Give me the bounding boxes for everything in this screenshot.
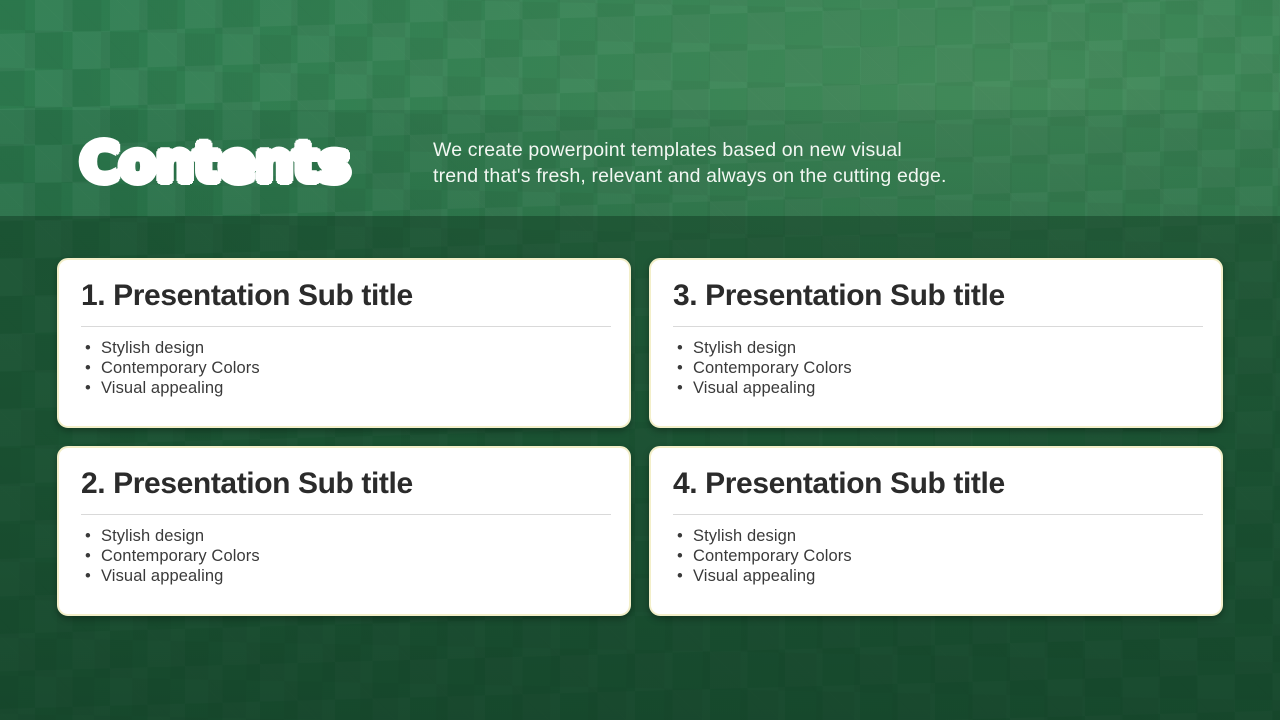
- bullet-icon: •: [85, 378, 91, 398]
- card-divider: [81, 514, 611, 515]
- card-bullet-list: •Stylish design •Contemporary Colors •Vi…: [673, 338, 1199, 398]
- list-item-label: Visual appealing: [693, 379, 815, 397]
- list-item-label: Stylish design: [101, 527, 204, 545]
- list-item: •Visual appealing: [81, 378, 607, 398]
- list-item: •Contemporary Colors: [81, 358, 607, 378]
- list-item: •Stylish design: [673, 338, 1199, 358]
- list-item-label: Stylish design: [693, 339, 796, 357]
- list-item-label: Stylish design: [693, 527, 796, 545]
- card-bullet-list: •Stylish design •Contemporary Colors •Vi…: [81, 338, 607, 398]
- card-bullet-list: •Stylish design •Contemporary Colors •Vi…: [673, 526, 1199, 586]
- content-card[interactable]: 4. Presentation Sub title •Stylish desig…: [649, 446, 1223, 616]
- header-subtitle-line-2: trend that's fresh, relevant and always …: [433, 163, 1053, 189]
- card-title: 3. Presentation Sub title: [673, 280, 1199, 312]
- bullet-icon: •: [85, 566, 91, 586]
- content-card[interactable]: 1. Presentation Sub title •Stylish desig…: [57, 258, 631, 428]
- bullet-icon: •: [85, 338, 91, 358]
- list-item: •Visual appealing: [673, 378, 1199, 398]
- list-item: •Contemporary Colors: [673, 546, 1199, 566]
- list-item-label: Contemporary Colors: [693, 359, 852, 377]
- header-subtitle-line-1: We create powerpoint templates based on …: [433, 137, 1053, 163]
- bullet-icon: •: [677, 566, 683, 586]
- card-divider: [673, 326, 1203, 327]
- list-item-label: Stylish design: [101, 339, 204, 357]
- bullet-icon: •: [677, 358, 683, 378]
- list-item-label: Contemporary Colors: [101, 547, 260, 565]
- card-divider: [673, 514, 1203, 515]
- list-item-label: Visual appealing: [101, 567, 223, 585]
- list-item: •Contemporary Colors: [673, 358, 1199, 378]
- header-subtitle: We create powerpoint templates based on …: [433, 137, 1053, 189]
- list-item: •Stylish design: [673, 526, 1199, 546]
- bullet-icon: •: [85, 526, 91, 546]
- list-item: •Visual appealing: [81, 566, 607, 586]
- content-card[interactable]: 3. Presentation Sub title •Stylish desig…: [649, 258, 1223, 428]
- bullet-icon: •: [677, 378, 683, 398]
- page-title: Contents: [80, 136, 350, 190]
- bullet-icon: •: [677, 546, 683, 566]
- list-item-label: Visual appealing: [101, 379, 223, 397]
- list-item-label: Contemporary Colors: [693, 547, 852, 565]
- list-item-label: Contemporary Colors: [101, 359, 260, 377]
- bullet-icon: •: [85, 546, 91, 566]
- bullet-icon: •: [677, 526, 683, 546]
- list-item: •Stylish design: [81, 338, 607, 358]
- slide: Contents We create powerpoint templates …: [0, 0, 1280, 720]
- list-item-label: Visual appealing: [693, 567, 815, 585]
- bullet-icon: •: [677, 338, 683, 358]
- card-title: 4. Presentation Sub title: [673, 468, 1199, 500]
- list-item: •Stylish design: [81, 526, 607, 546]
- card-title: 1. Presentation Sub title: [81, 280, 607, 312]
- card-title: 2. Presentation Sub title: [81, 468, 607, 500]
- list-item: •Visual appealing: [673, 566, 1199, 586]
- card-bullet-list: •Stylish design •Contemporary Colors •Vi…: [81, 526, 607, 586]
- list-item: •Contemporary Colors: [81, 546, 607, 566]
- card-divider: [81, 326, 611, 327]
- content-card[interactable]: 2. Presentation Sub title •Stylish desig…: [57, 446, 631, 616]
- content-card-grid: 1. Presentation Sub title •Stylish desig…: [57, 258, 1223, 616]
- bullet-icon: •: [85, 358, 91, 378]
- header: Contents We create powerpoint templates …: [0, 110, 1280, 216]
